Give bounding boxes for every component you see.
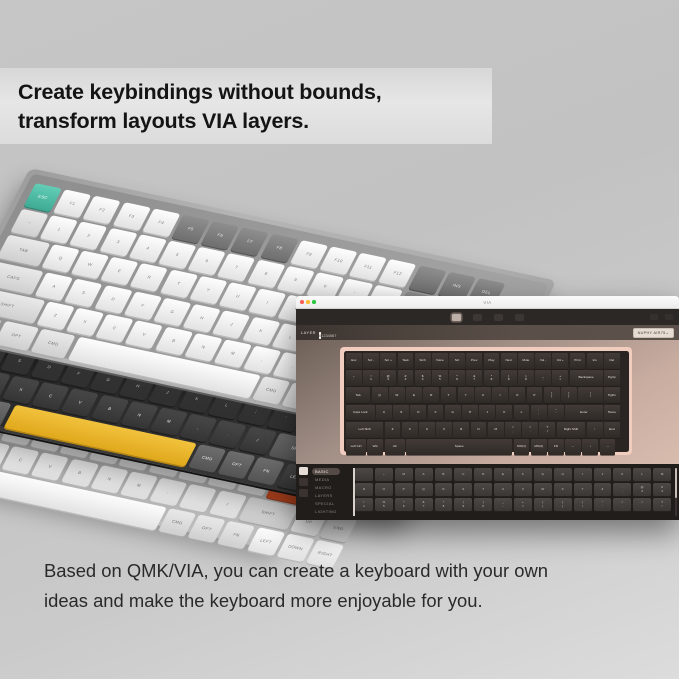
keycode-key[interactable]: X xyxy=(554,483,572,496)
via-key-label: G xyxy=(452,411,454,414)
via-key[interactable]: ↓ xyxy=(582,439,598,455)
via-key[interactable]: N xyxy=(471,422,487,438)
keycode-key[interactable]: !1 xyxy=(355,498,373,511)
keymap-icon[interactable] xyxy=(452,314,461,321)
keycap-label: FN xyxy=(232,533,240,538)
keycap-label: W xyxy=(87,263,93,268)
sidebar-menu[interactable]: BASICMEDIAMACROLAYERSSPECIALLIGHTING xyxy=(312,467,340,520)
keycode-key[interactable]: B xyxy=(435,468,453,481)
via-key[interactable]: U xyxy=(475,387,491,403)
footer-line-2: ideas and make the keyboard more enjoyab… xyxy=(44,586,644,616)
keycap-label: DEL xyxy=(481,290,492,296)
via-key[interactable]: B xyxy=(453,422,469,438)
via-key-label-bottom: / xyxy=(547,430,548,433)
via-key[interactable]: Space xyxy=(406,439,512,455)
keycode-key[interactable]: U xyxy=(494,483,512,496)
via-keyboard-render[interactable]: EscScr -Scr +TaskSrchVoiceSiriPrevPlayNe… xyxy=(340,347,632,455)
via-key[interactable]: ~` xyxy=(346,370,362,386)
design-icon[interactable] xyxy=(665,314,673,320)
keycode-key[interactable]: &7 xyxy=(415,498,433,511)
keycode-key[interactable]: G xyxy=(534,468,552,481)
keycap-label: H xyxy=(135,384,140,388)
keycap-label: F4 xyxy=(157,220,164,225)
via-key[interactable]: Left Shift xyxy=(346,422,383,438)
keycap-label: CMD xyxy=(265,388,277,394)
keycode-key[interactable]: ~ xyxy=(375,468,393,481)
via-key[interactable]: Vol - xyxy=(535,353,551,369)
layer-chip-group[interactable]: 01234567 xyxy=(319,324,336,342)
keycode-key[interactable]: O xyxy=(375,483,393,496)
via-key[interactable]: @2 xyxy=(380,370,396,386)
keycode-label-bottom: T xyxy=(482,488,484,491)
via-key-label-bottom: ; xyxy=(538,412,539,415)
via-key-label: Left Shift xyxy=(358,428,370,431)
via-key-label: Print xyxy=(574,359,580,362)
via-key[interactable]: ^6 xyxy=(449,370,465,386)
keycap-label: C xyxy=(112,326,117,330)
keycode-label-bottom: / xyxy=(662,505,663,508)
via-key[interactable]: H xyxy=(462,405,478,421)
keycode-label-bottom: 8 xyxy=(443,505,445,508)
keycode-rows[interactable]: ~MABCDEFGHIJKLMNOPQRSTUVWXYZ:;@2#3!1%5^6… xyxy=(355,468,671,511)
keycode-label-bottom: Z xyxy=(602,488,604,491)
keycap-label: F12 xyxy=(393,271,403,276)
keycap-label: DOWN xyxy=(287,545,303,552)
via-key-label-bottom: 3 xyxy=(405,378,407,381)
via-key[interactable]: PgDn xyxy=(604,387,620,403)
keycode-grid[interactable]: ~MABCDEFGHIJKLMNOPQRSTUVWXYZ:;@2#3!1%5^6… xyxy=(353,464,679,520)
keycap-label: . xyxy=(196,496,199,500)
keycap-label: S xyxy=(81,291,86,295)
settings-icon[interactable] xyxy=(650,314,658,320)
via-key-label-bottom: 8 xyxy=(491,378,493,381)
via-key-label: ↓ xyxy=(590,445,592,448)
via-key[interactable]: G xyxy=(445,405,461,421)
keycap-label: F5 xyxy=(187,227,194,232)
keycode-key[interactable]: "' xyxy=(594,498,612,511)
keycode-label-bottom: Y xyxy=(582,488,584,491)
via-key-label-bottom: - xyxy=(543,378,544,381)
via-key[interactable]: #3 xyxy=(398,370,414,386)
via-key[interactable]: Print xyxy=(570,353,586,369)
via-key-label-bottom: 4 xyxy=(422,378,424,381)
keycode-key[interactable]: M xyxy=(653,468,671,481)
keycap-label: SHIFT xyxy=(260,510,275,517)
via-key[interactable]: Alt xyxy=(385,439,405,455)
keycap-label: F9 xyxy=(305,252,312,257)
keycode-key[interactable]: :; xyxy=(613,483,631,496)
via-key[interactable]: V xyxy=(436,422,452,438)
via-key[interactable]: Q xyxy=(372,387,388,403)
keycap-label: 6 xyxy=(204,259,208,263)
keycode-key[interactable]: %5 xyxy=(375,498,393,511)
keycap-label: U xyxy=(235,295,240,299)
keycode-key[interactable]: S xyxy=(454,483,472,496)
via-key-label: Prev xyxy=(471,359,477,362)
keycode-label-bottom: 0 xyxy=(482,505,484,508)
via-key[interactable]: |\ xyxy=(578,387,603,403)
via-key[interactable]: S xyxy=(393,405,409,421)
via-key-label: Del xyxy=(610,359,615,362)
keycode-key[interactable]: M xyxy=(395,468,413,481)
via-key[interactable]: PgUp xyxy=(604,370,620,386)
via-key-label-bottom: ] xyxy=(568,395,569,398)
via-key-label: Voice xyxy=(436,359,444,362)
keycap-label: B xyxy=(107,407,112,411)
keycap-label: 8 xyxy=(264,272,268,276)
via-key-label: D xyxy=(417,411,419,414)
via-key-label: L xyxy=(521,411,523,414)
keycode-label-bottom: V xyxy=(522,488,524,491)
via-keycode-panel: BASICMEDIAMACROLAYERSSPECIALLIGHTING ~MA… xyxy=(296,464,679,520)
keycode-key[interactable]: L xyxy=(633,468,651,481)
keycap-label: R xyxy=(146,276,151,280)
keycap-label: V xyxy=(142,332,147,336)
via-key[interactable]: M xyxy=(488,422,504,438)
sidebar-item-media[interactable]: MEDIA xyxy=(312,476,340,483)
via-key[interactable]: !1 xyxy=(363,370,379,386)
via-key[interactable]: _- xyxy=(535,370,551,386)
keycap-label: N xyxy=(201,345,206,349)
via-keyboard-plate: EscScr -Scr +TaskSrchVoiceSiriPrevPlayNe… xyxy=(344,351,629,452)
via-key-label: Task xyxy=(402,359,408,362)
keycode-key[interactable]: Y xyxy=(574,483,592,496)
keycap-label: F xyxy=(76,371,81,375)
keycap-label: F3 xyxy=(128,214,135,219)
macros-icon[interactable] xyxy=(494,314,503,321)
keycode-label-bottom: 5 xyxy=(383,505,385,508)
lighting-icon[interactable] xyxy=(473,314,482,321)
via-key-label: H xyxy=(469,411,471,414)
keycap-label: 3 xyxy=(116,240,120,244)
keycode-key[interactable]: W xyxy=(534,483,552,496)
keycode-label-bottom: 2 xyxy=(641,490,643,493)
promo-image: ESCF1F2F3F4F5F6F7F8F9F10F11F12INSDEL~123… xyxy=(0,0,679,679)
keycap-label: M xyxy=(230,351,236,355)
via-key[interactable]: "' xyxy=(548,405,564,421)
via-key[interactable]: (9 xyxy=(501,370,517,386)
keycap-label: G xyxy=(170,309,175,313)
keycap-label: Q xyxy=(58,257,63,261)
via-key-label: M xyxy=(494,428,497,431)
via-key[interactable]: A xyxy=(376,405,392,421)
via-key[interactable]: Win xyxy=(367,439,383,455)
via-key-label: Siri xyxy=(455,359,459,362)
via-key[interactable]: }] xyxy=(561,387,577,403)
footer-caption: Based on QMK/VIA, you can create a keybo… xyxy=(44,556,644,616)
keycap-label: Z xyxy=(53,313,58,317)
keycode-label-bottom: F xyxy=(522,473,524,476)
keycap-label: , xyxy=(197,426,200,430)
via-key[interactable]: Right Shift xyxy=(557,422,586,438)
via-key[interactable]: Vol + xyxy=(552,353,568,369)
keycode-key[interactable]: (9 xyxy=(454,498,472,511)
via-key[interactable]: Tab xyxy=(346,387,371,403)
keycap-label: FN xyxy=(262,469,270,474)
via-key[interactable]: Home xyxy=(604,405,620,421)
keycap-label: A xyxy=(52,284,57,288)
via-key-label: → xyxy=(606,445,609,448)
save-icon[interactable] xyxy=(515,314,524,321)
via-key-label: Backspace xyxy=(578,376,593,379)
layer-chip-7[interactable]: 7 xyxy=(334,332,336,339)
via-key[interactable]: J xyxy=(479,405,495,421)
via-key[interactable]: ↑ xyxy=(587,422,603,438)
keycap-label: J xyxy=(229,322,233,326)
via-key-label: V xyxy=(443,428,445,431)
keycode-key[interactable]: T xyxy=(474,483,492,496)
keycode-key[interactable]: Z xyxy=(594,483,612,496)
keycap-label: , xyxy=(261,358,264,362)
sidebar-icon-rail[interactable] xyxy=(299,467,310,520)
via-key[interactable]: )0 xyxy=(518,370,534,386)
via-key[interactable]: Siri xyxy=(449,353,465,369)
keycode-key[interactable]: #3 xyxy=(653,483,671,496)
keycode-label-bottom: K xyxy=(621,473,623,476)
via-key[interactable]: Srch xyxy=(415,353,431,369)
keycode-label-bottom: L xyxy=(641,473,643,476)
via-key[interactable]: Ins xyxy=(587,353,603,369)
keycode-label-bottom: = xyxy=(522,505,524,508)
keycode-key[interactable]: N xyxy=(355,483,373,496)
via-key-label-bottom: ` xyxy=(353,378,354,381)
keycode-label-bottom: A xyxy=(423,473,425,476)
via-key[interactable]: Left Ctrl xyxy=(346,439,366,455)
keycode-key[interactable]: >. xyxy=(633,498,651,511)
keycode-key[interactable]: J xyxy=(594,468,612,481)
keycap-label: M xyxy=(166,419,172,423)
keycode-key[interactable]: _- xyxy=(494,498,512,511)
keycode-key[interactable]: I xyxy=(574,468,592,481)
keycap-label: H xyxy=(199,316,204,320)
via-key[interactable]: &7 xyxy=(466,370,482,386)
keycode-key[interactable]: {[ xyxy=(534,498,552,511)
via-key[interactable]: X xyxy=(402,422,418,438)
keycap-label: CAPS xyxy=(6,274,20,280)
via-key[interactable]: {[ xyxy=(544,387,560,403)
via-key[interactable]: ?/ xyxy=(539,422,555,438)
sidebar-item-layers[interactable]: LAYERS xyxy=(312,492,340,499)
dropdown-icon[interactable] xyxy=(299,489,308,497)
headline-line-1: Create keybindings without bounds, xyxy=(18,78,492,107)
via-key[interactable]: Prev xyxy=(466,353,482,369)
via-key[interactable]: R xyxy=(423,387,439,403)
via-key-label: A xyxy=(383,411,385,414)
keycap-label: . xyxy=(290,364,293,368)
keycode-label-bottom: N xyxy=(363,488,365,491)
keycap-label: OPT xyxy=(201,526,212,532)
keycode-label-bottom: U xyxy=(502,488,504,491)
via-key[interactable]: >. xyxy=(522,422,538,438)
via-key-label: X xyxy=(409,428,411,431)
via-key-label: Q xyxy=(378,394,380,397)
keycap-label: 9 xyxy=(293,278,297,282)
via-key-label: T xyxy=(448,394,450,397)
via-key[interactable]: Task xyxy=(398,353,414,369)
keycap-icon[interactable] xyxy=(299,467,308,475)
via-key-label: F xyxy=(435,411,437,414)
keycap-label: B xyxy=(171,339,176,343)
via-key[interactable]: L xyxy=(514,405,530,421)
keycap-label: V xyxy=(48,464,53,468)
keycap-label: F2 xyxy=(98,208,105,213)
via-key[interactable]: Scr - xyxy=(363,353,379,369)
via-key-label: MO(2) xyxy=(534,445,543,448)
via-key[interactable]: ← xyxy=(565,439,581,455)
keycode-scrollbar[interactable] xyxy=(675,468,678,516)
keycode-key[interactable] xyxy=(355,468,373,481)
via-key[interactable]: MO(2) xyxy=(531,439,547,455)
via-key[interactable]: Backspace xyxy=(570,370,603,386)
keycode-label-bottom: M xyxy=(402,473,405,476)
via-key[interactable]: %5 xyxy=(432,370,448,386)
via-key-label: Caps Lock xyxy=(353,411,368,414)
via-key[interactable]: $4 xyxy=(415,370,431,386)
keycap-label: CMD xyxy=(171,520,183,526)
keycode-key[interactable]: Q xyxy=(415,483,433,496)
via-key[interactable]: MO(1) xyxy=(514,439,530,455)
keycode-key[interactable]: P xyxy=(395,483,413,496)
via-key[interactable]: T xyxy=(441,387,457,403)
via-key[interactable]: → xyxy=(600,439,616,455)
via-key[interactable]: F xyxy=(428,405,444,421)
keycode-label-bottom: ~ xyxy=(383,473,385,476)
keycode-key[interactable]: R xyxy=(435,483,453,496)
via-key[interactable]: Z xyxy=(385,422,401,438)
keycode-key[interactable]: ^6 xyxy=(395,498,413,511)
via-key-label: O xyxy=(516,394,518,397)
keycode-label-bottom: 1 xyxy=(363,505,365,508)
via-key[interactable]: Scr + xyxy=(380,353,396,369)
keycode-key[interactable]: E xyxy=(494,468,512,481)
keycode-label-bottom: Q xyxy=(422,488,424,491)
keycap-label: M xyxy=(136,483,142,487)
via-app-window[interactable]: VIA LAYER 01234567 NUPHY AIR75⌄ EscScr -… xyxy=(296,296,679,520)
sidebar-item-basic[interactable]: BASIC xyxy=(312,468,340,475)
via-key[interactable]: P xyxy=(527,387,543,403)
via-key[interactable]: Enter xyxy=(565,405,602,421)
keycode-key[interactable]: <, xyxy=(613,498,631,511)
keycap-label: N xyxy=(137,413,142,417)
keycap-label: G xyxy=(106,377,111,381)
keyboard-select-dropdown[interactable]: NUPHY AIR75⌄ xyxy=(633,328,674,338)
keycap-label: ' xyxy=(284,416,287,420)
keycap-label: C xyxy=(18,458,23,462)
layer-selector-bar[interactable]: LAYER 01234567 NUPHY AIR75⌄ xyxy=(296,325,679,340)
keycode-label-bottom: ] xyxy=(562,505,563,508)
via-key[interactable]: Caps Lock xyxy=(346,405,375,421)
chevron-down-icon: ⌄ xyxy=(666,331,669,335)
via-key-label: E xyxy=(413,394,415,397)
keycap-label: / xyxy=(226,503,229,507)
via-key[interactable]: End xyxy=(604,422,620,438)
via-key[interactable]: O xyxy=(509,387,525,403)
keycode-label-bottom: [ xyxy=(542,505,543,508)
via-key[interactable]: :; xyxy=(531,405,547,421)
sidebar-item-lighting[interactable]: LIGHTING xyxy=(312,508,340,515)
keycode-key[interactable]: *8 xyxy=(435,498,453,511)
via-key[interactable]: Next xyxy=(501,353,517,369)
keycap-label: 4 xyxy=(145,247,149,251)
keycode-key[interactable]: C xyxy=(454,468,472,481)
via-key[interactable]: <, xyxy=(505,422,521,438)
via-key-label-bottom: 6 xyxy=(456,378,458,381)
via-key-label: MO(1) xyxy=(517,445,526,448)
via-key[interactable]: *8 xyxy=(484,370,500,386)
via-key-label: Scr + xyxy=(385,359,392,362)
keycode-category-sidebar[interactable]: BASICMEDIAMACROLAYERSSPECIALLIGHTING xyxy=(296,464,353,520)
keycode-key[interactable]: H xyxy=(554,468,572,481)
via-key[interactable]: Mute xyxy=(518,353,534,369)
keycap-label: F xyxy=(140,303,145,307)
keycode-label-bottom: P xyxy=(403,488,405,491)
keycode-label-bottom: D xyxy=(482,473,484,476)
sidebar-item-special[interactable]: SPECIAL xyxy=(312,500,340,507)
keycap-label: END xyxy=(333,525,345,531)
keycap-label: . xyxy=(226,432,229,436)
keycap-label: ; xyxy=(255,409,258,413)
via-key-label: Esc xyxy=(351,359,356,362)
keycode-key[interactable]: )0 xyxy=(474,498,492,511)
via-key[interactable]: I xyxy=(492,387,508,403)
rotate-icon[interactable] xyxy=(299,478,308,486)
keycode-key[interactable]: }] xyxy=(554,498,572,511)
keycode-label-bottom: O xyxy=(383,488,385,491)
via-title-bar: VIA xyxy=(296,296,679,309)
via-key[interactable]: Esc xyxy=(346,353,362,369)
keycode-key[interactable]: ?/ xyxy=(653,498,671,511)
via-key[interactable]: Del xyxy=(604,353,620,369)
keycode-key[interactable]: A xyxy=(415,468,433,481)
via-key[interactable]: FN xyxy=(548,439,564,455)
keycode-key[interactable]: K xyxy=(613,468,631,481)
keycap-label: S xyxy=(17,359,22,363)
via-key[interactable]: Y xyxy=(458,387,474,403)
via-key[interactable]: E xyxy=(406,387,422,403)
via-key[interactable]: Voice xyxy=(432,353,448,369)
via-key-label: Vol - xyxy=(540,359,546,362)
via-key[interactable]: W xyxy=(389,387,405,403)
keycode-label-bottom: 3 xyxy=(661,490,663,493)
keycode-key[interactable]: D xyxy=(474,468,492,481)
keycap-label: F11 xyxy=(363,264,373,269)
via-key-label: Ins xyxy=(593,359,597,362)
keycap-label: / xyxy=(256,439,259,443)
keycode-label-bottom: X xyxy=(562,488,564,491)
keycap-label: E xyxy=(117,269,122,273)
keycap-label: OPT xyxy=(231,462,242,468)
via-key[interactable]: K xyxy=(496,405,512,421)
keycode-key[interactable]: |\ xyxy=(574,498,592,511)
keycap-label: 2 xyxy=(86,234,90,238)
keycode-label-bottom: \ xyxy=(582,505,583,508)
via-key-label-bottom: \ xyxy=(590,395,591,398)
via-key[interactable]: Play xyxy=(484,353,500,369)
headline-banner: Create keybindings without bounds, trans… xyxy=(0,68,492,144)
sidebar-item-macro[interactable]: MACRO xyxy=(312,484,340,491)
keycode-key[interactable]: += xyxy=(514,498,532,511)
via-key[interactable]: C xyxy=(419,422,435,438)
keycode-key[interactable]: V xyxy=(514,483,532,496)
keycode-key[interactable]: F xyxy=(514,468,532,481)
keycap-label: T xyxy=(176,282,181,286)
via-key[interactable]: += xyxy=(552,370,568,386)
keycode-label-bottom: E xyxy=(502,473,504,476)
keycap-label: I xyxy=(266,301,269,305)
via-key[interactable]: D xyxy=(410,405,426,421)
keycode-key[interactable]: @2 xyxy=(633,483,651,496)
keycode-label-bottom: . xyxy=(642,505,643,508)
